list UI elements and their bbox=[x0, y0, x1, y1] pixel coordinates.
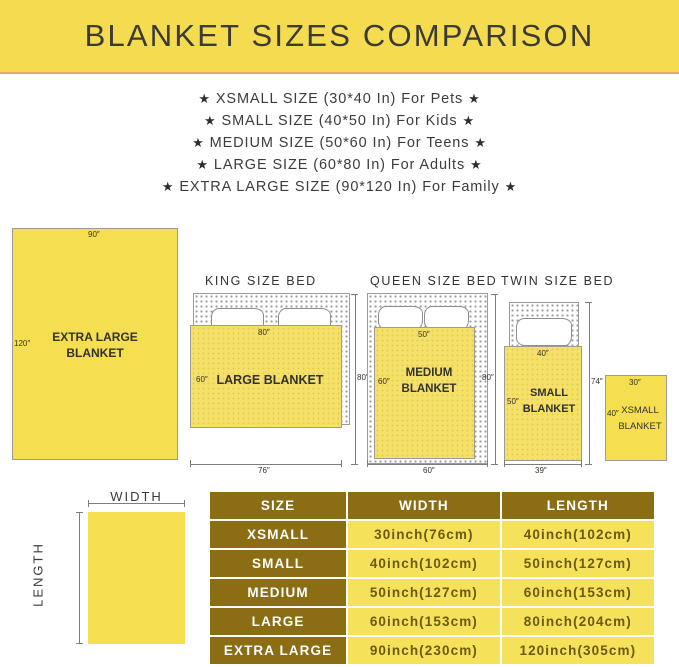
table-row: SMALL 40inch(102cm) 50inch(127cm) bbox=[210, 550, 654, 577]
queen-width-measure-line bbox=[367, 464, 488, 465]
cell-width: 40inch(102cm) bbox=[348, 550, 500, 577]
cell-width: 90inch(230cm) bbox=[348, 637, 500, 664]
legend-width-tick-left bbox=[88, 500, 89, 507]
queen-length-tick-top bbox=[491, 294, 498, 295]
cell-size: XSMALL bbox=[210, 521, 346, 548]
cell-size: MEDIUM bbox=[210, 579, 346, 606]
width-length-legend: WIDTH LENGTH bbox=[20, 487, 205, 662]
list-item: ★ LARGE SIZE (60*80 In) For Adults ★ bbox=[0, 154, 679, 176]
twin-width-tick-left bbox=[504, 460, 505, 467]
header-banner: BLANKET SIZES COMPARISON bbox=[0, 0, 679, 72]
star-icon: ★ bbox=[462, 113, 475, 128]
queen-length-tick-bottom bbox=[491, 464, 498, 465]
twin-length-tick-top bbox=[585, 302, 592, 303]
medium-blanket-label: MEDIUM BLANKET bbox=[391, 365, 467, 397]
king-length-measure-line bbox=[355, 294, 356, 464]
king-bed-width-dim: 76″ bbox=[258, 466, 270, 475]
label-line-1: MEDIUM bbox=[391, 365, 467, 381]
legend-length-tick-top bbox=[76, 512, 83, 513]
queen-width-tick-left bbox=[367, 460, 368, 467]
queen-bed-title: QUEEN SIZE BED bbox=[370, 274, 497, 288]
label-line-2: BLANKET bbox=[30, 345, 160, 361]
king-width-tick-right bbox=[341, 460, 342, 467]
twin-pillow bbox=[516, 318, 572, 346]
twin-bed-title: TWIN SIZE BED bbox=[501, 274, 614, 288]
legend-blanket-shape bbox=[88, 512, 185, 644]
twin-width-tick-right bbox=[581, 460, 582, 467]
king-width-tick-left bbox=[190, 460, 191, 467]
label-line-1: EXTRA LARGE bbox=[30, 329, 160, 345]
legend-length-measure-line bbox=[79, 512, 80, 644]
star-icon: ★ bbox=[192, 135, 205, 150]
bullet-text: XSMALL SIZE (30*40 In) For Pets bbox=[216, 91, 463, 107]
label-line-1: SMALL bbox=[518, 385, 580, 401]
extra-large-length-dim: 120″ bbox=[14, 339, 30, 348]
bullet-text: SMALL SIZE (40*50 In) For Kids bbox=[222, 113, 458, 129]
star-icon: ★ bbox=[468, 91, 481, 106]
star-icon: ★ bbox=[474, 135, 487, 150]
small-blanket-label: SMALL BLANKET bbox=[518, 385, 580, 417]
legend-width-label: WIDTH bbox=[88, 489, 185, 504]
xsmall-width-dim: 30″ bbox=[629, 378, 641, 387]
star-icon: ★ bbox=[470, 157, 483, 172]
small-blanket-length-dim: 50″ bbox=[507, 397, 519, 406]
twin-width-measure-line bbox=[504, 464, 582, 465]
table-row: LARGE 60inch(153cm) 80inch(204cm) bbox=[210, 608, 654, 635]
label-line-1: XSMALL bbox=[615, 403, 665, 419]
table-row: XSMALL 30inch(76cm) 40inch(102cm) bbox=[210, 521, 654, 548]
bullet-text: MEDIUM SIZE (50*60 In) For Teens bbox=[210, 135, 470, 151]
column-header-length: LENGTH bbox=[502, 492, 654, 519]
cell-width: 50inch(127cm) bbox=[348, 579, 500, 606]
star-icon: ★ bbox=[196, 157, 209, 172]
star-icon: ★ bbox=[198, 91, 211, 106]
xsmall-blanket-label: XSMALL BLANKET bbox=[615, 403, 665, 435]
legend-width-measure-line bbox=[88, 503, 185, 504]
twin-length-tick-bottom bbox=[585, 464, 592, 465]
twin-bed-length-dim: 74″ bbox=[591, 377, 603, 386]
cell-length: 120inch(305cm) bbox=[502, 637, 654, 664]
king-length-tick-bottom bbox=[351, 464, 358, 465]
table-row: MEDIUM 50inch(127cm) 60inch(153cm) bbox=[210, 579, 654, 606]
bullet-text: EXTRA LARGE SIZE (90*120 In) For Family bbox=[179, 179, 499, 195]
blanket-size-diagram: 90″ 120″ EXTRA LARGE BLANKET KING SIZE B… bbox=[0, 215, 679, 480]
header-divider bbox=[0, 72, 679, 74]
list-item: ★ MEDIUM SIZE (50*60 In) For Teens ★ bbox=[0, 132, 679, 154]
twin-bed-width-dim: 39″ bbox=[535, 466, 547, 475]
small-blanket-width-dim: 40″ bbox=[537, 349, 549, 358]
cell-size: SMALL bbox=[210, 550, 346, 577]
queen-bed-width-dim: 60″ bbox=[423, 466, 435, 475]
extra-large-blanket-label: EXTRA LARGE BLANKET bbox=[30, 329, 160, 361]
table-header-row: SIZE WIDTH LENGTH bbox=[210, 492, 654, 519]
column-header-width: WIDTH bbox=[348, 492, 500, 519]
queen-length-measure-line bbox=[495, 294, 496, 464]
large-blanket-length-dim: 60″ bbox=[196, 375, 208, 384]
king-bed-title: KING SIZE BED bbox=[205, 274, 317, 288]
label-line-2: BLANKET bbox=[391, 381, 467, 397]
size-bullet-list: ★ XSMALL SIZE (30*40 In) For Pets ★ ★ SM… bbox=[0, 88, 679, 198]
star-icon: ★ bbox=[505, 179, 518, 194]
list-item: ★ EXTRA LARGE SIZE (90*120 In) For Famil… bbox=[0, 176, 679, 198]
cell-size: EXTRA LARGE bbox=[210, 637, 346, 664]
label-line-2: BLANKET bbox=[518, 401, 580, 417]
cell-size: LARGE bbox=[210, 608, 346, 635]
table-row: EXTRA LARGE 90inch(230cm) 120inch(305cm) bbox=[210, 637, 654, 664]
column-header-size: SIZE bbox=[210, 492, 346, 519]
cell-width: 30inch(76cm) bbox=[348, 521, 500, 548]
twin-length-measure-line bbox=[589, 302, 590, 464]
label-line-2: BLANKET bbox=[615, 419, 665, 435]
bullet-text: LARGE SIZE (60*80 In) For Adults bbox=[214, 157, 465, 173]
king-width-measure-line bbox=[190, 464, 342, 465]
legend-length-label: LENGTH bbox=[31, 530, 46, 620]
star-icon: ★ bbox=[162, 179, 175, 194]
medium-blanket-width-dim: 50″ bbox=[418, 330, 430, 339]
cell-length: 40inch(102cm) bbox=[502, 521, 654, 548]
cell-length: 80inch(204cm) bbox=[502, 608, 654, 635]
size-chart-table: SIZE WIDTH LENGTH XSMALL 30inch(76cm) 40… bbox=[208, 490, 656, 666]
list-item: ★ SMALL SIZE (40*50 In) For Kids ★ bbox=[0, 110, 679, 132]
cell-width: 60inch(153cm) bbox=[348, 608, 500, 635]
cell-length: 60inch(153cm) bbox=[502, 579, 654, 606]
infographic-page: BLANKET SIZES COMPARISON ★ XSMALL SIZE (… bbox=[0, 0, 679, 667]
list-item: ★ XSMALL SIZE (30*40 In) For Pets ★ bbox=[0, 88, 679, 110]
cell-length: 50inch(127cm) bbox=[502, 550, 654, 577]
legend-width-tick-right bbox=[184, 500, 185, 507]
page-title: BLANKET SIZES COMPARISON bbox=[85, 18, 595, 54]
legend-length-tick-bottom bbox=[76, 643, 83, 644]
queen-bed-length-dim: 80″ bbox=[482, 373, 494, 382]
large-blanket-label: LARGE BLANKET bbox=[212, 372, 328, 388]
large-blanket-width-dim: 80″ bbox=[258, 328, 270, 337]
star-icon: ★ bbox=[204, 113, 217, 128]
medium-blanket-length-dim: 60″ bbox=[378, 377, 390, 386]
king-length-tick-top bbox=[351, 294, 358, 295]
extra-large-width-dim: 90″ bbox=[88, 230, 100, 239]
queen-width-tick-right bbox=[487, 460, 488, 467]
